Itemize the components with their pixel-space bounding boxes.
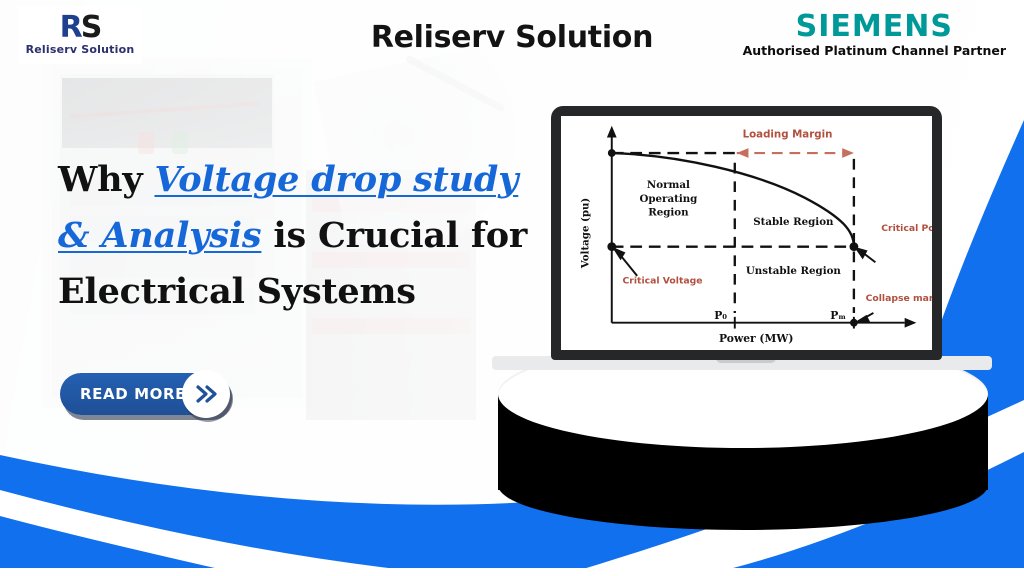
p0-tick-label: P₀: [714, 309, 727, 322]
loading-margin-arrow-left: [737, 148, 749, 158]
headline-link-voltage-drop-study[interactable]: Voltage drop study: [154, 159, 518, 200]
laptop-lid: Loading Margin Normal Operating Region S…: [551, 106, 942, 360]
read-more-label: READ MORE: [80, 385, 186, 403]
x-axis-label: Power (MW): [719, 332, 793, 345]
banner-canvas: RS Reliserv Solution Reliserv Solution S…: [0, 0, 1024, 576]
y-axis-label: Voltage (pu): [579, 198, 591, 270]
hero-headline: Why Voltage drop study & Analysis is Cru…: [58, 152, 538, 320]
normal-region-label-line1: Normal: [647, 179, 690, 191]
headline-text-3: Electrical Systems: [58, 271, 416, 312]
headline-text-2: is Crucial for: [261, 215, 527, 256]
marker-no-load-point: [608, 149, 616, 157]
read-more-arrow-circle[interactable]: [182, 370, 230, 418]
siemens-partner-subtitle: Authorised Platinum Channel Partner: [743, 43, 1006, 58]
double-chevron-right-icon: [194, 384, 218, 404]
loading-margin-label: Loading Margin: [743, 128, 833, 140]
critical-voltage-label: Critical Voltage: [623, 276, 703, 287]
pv-curve-chart: Loading Margin Normal Operating Region S…: [561, 116, 932, 350]
siemens-partner-badge: SIEMENS Authorised Platinum Channel Part…: [743, 12, 1006, 58]
x-axis-arrow: [905, 318, 917, 328]
podium-bottom-ellipse: [498, 440, 988, 530]
unstable-region-label: Unstable Region: [746, 265, 842, 277]
critical-point-label: Critical Point: [881, 223, 932, 234]
pv-curve-svg: Loading Margin Normal Operating Region S…: [561, 116, 932, 350]
critical-point-leader-head: [854, 247, 868, 260]
normal-region-label-line2: Operating: [639, 193, 697, 205]
y-axis-arrow: [607, 126, 617, 138]
stable-region-label: Stable Region: [753, 216, 834, 228]
collapse-margin-label: Collapse margin: [866, 293, 932, 304]
laptop-screen: Loading Margin Normal Operating Region S…: [561, 116, 932, 350]
headline-link-analysis[interactable]: & Analysis: [58, 215, 261, 256]
normal-region-label-line3: Region: [648, 206, 689, 218]
headline-text-1: Why: [58, 159, 154, 200]
loading-margin-arrow-right: [842, 148, 854, 158]
siemens-wordmark: SIEMENS: [743, 12, 1006, 42]
pm-tick-label: Pₘ: [830, 309, 846, 322]
